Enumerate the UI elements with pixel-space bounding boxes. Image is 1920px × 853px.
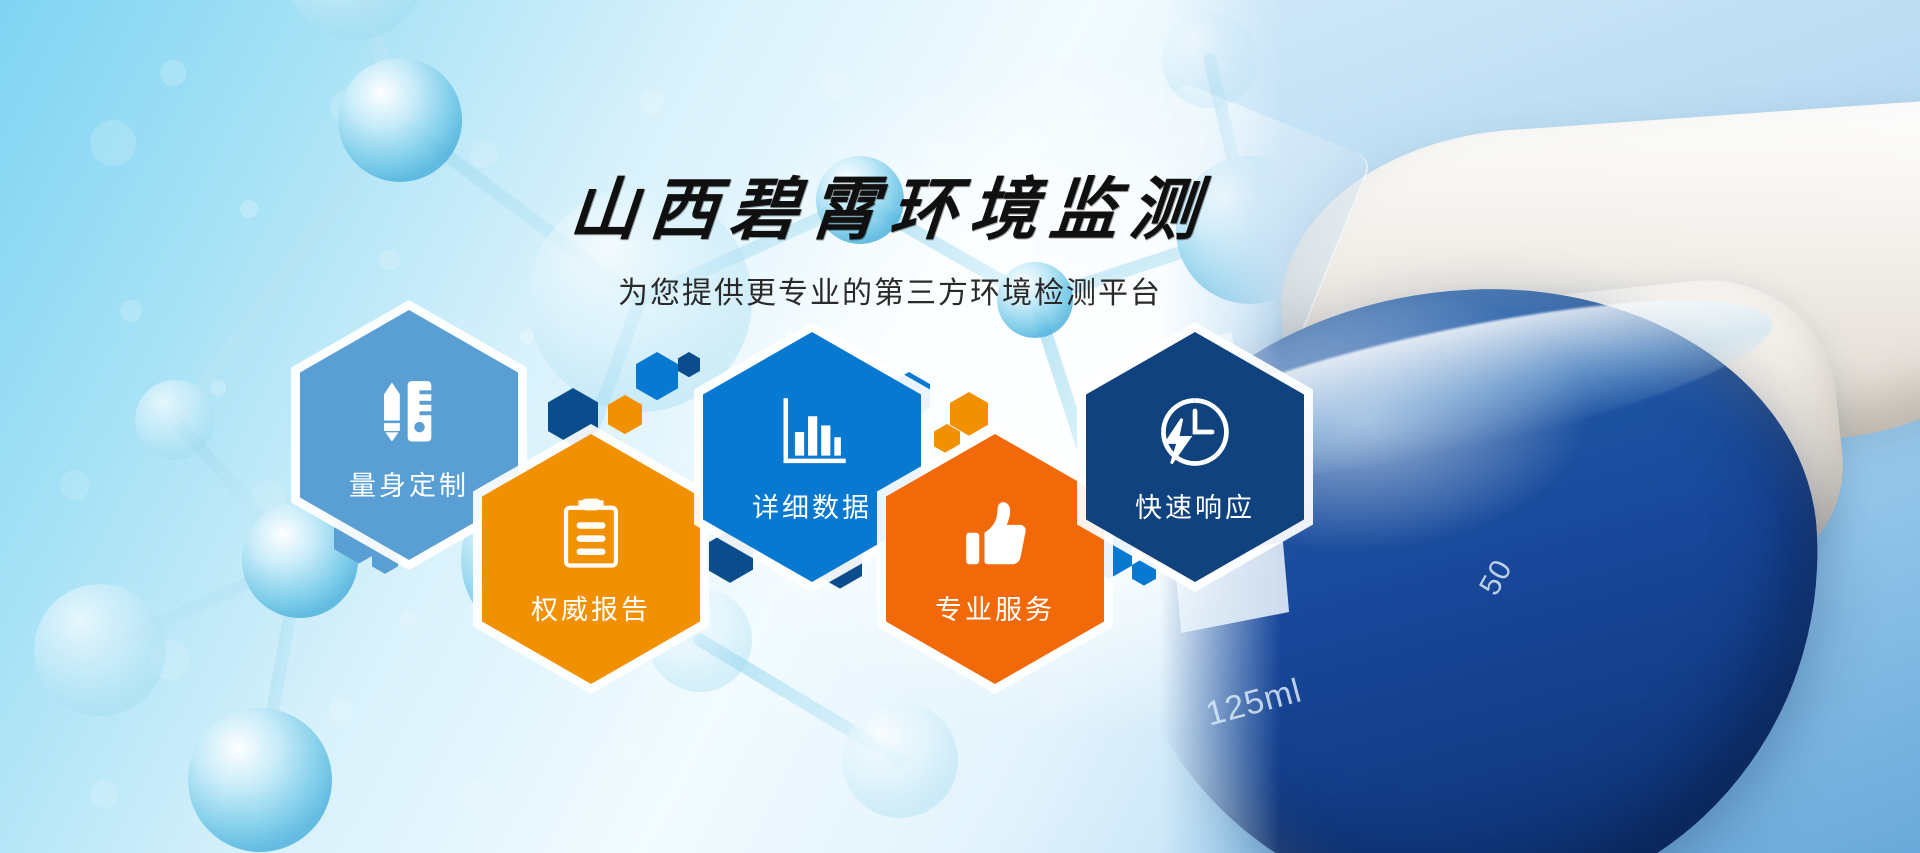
clock-bolt-icon [1153, 390, 1237, 474]
feature-label-custom-tailored: 量身定制 [349, 464, 469, 503]
clipboard-icon [549, 492, 633, 576]
feature-label-authoritative-report: 权威报告 [531, 588, 651, 627]
banner-subtitle: 为您提供更专业的第三方环境检测平台 [520, 268, 1260, 312]
feature-label-professional-service: 专业服务 [935, 588, 1055, 627]
thumbs-up-icon [953, 492, 1037, 576]
pencil-ruler-icon [367, 368, 451, 452]
bar-chart-icon [770, 390, 854, 474]
feature-label-detailed-data: 详细数据 [752, 486, 872, 525]
feature-label-fast-response: 快速响应 [1135, 486, 1255, 525]
promo-banner: TAI FONG T F 100 50 125ml 山西碧霄环境监测 为您提供更… [0, 0, 1920, 853]
feature-hexagon-group: 量身定制权威报告详细数据专业服务快速响应 [0, 0, 1920, 853]
decorative-hexagon [608, 395, 642, 434]
decorative-hexagon [636, 352, 678, 400]
banner-heading-group: 山西碧霄环境监测 为您提供更专业的第三方环境检测平台 [520, 175, 1260, 312]
banner-title: 山西碧霄环境监测 [517, 175, 1263, 246]
decorative-hexagon [678, 352, 700, 377]
